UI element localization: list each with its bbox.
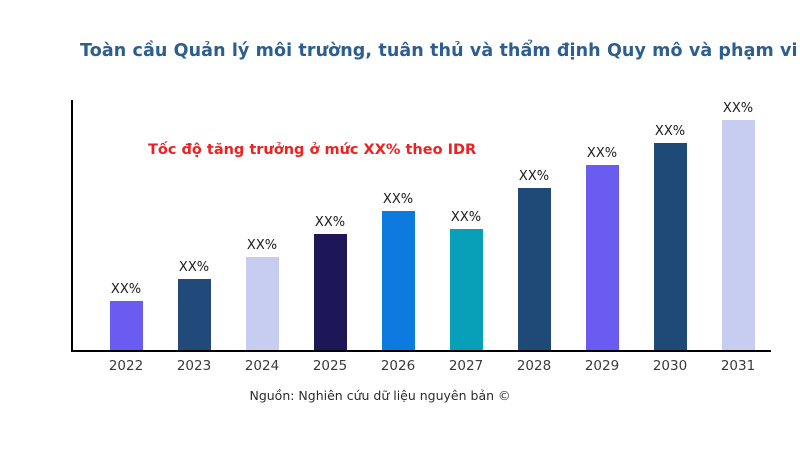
x-tick-2023: 2023 bbox=[160, 358, 228, 374]
bar-2023[interactable]: XX% bbox=[178, 279, 211, 350]
x-tick-2030: 2030 bbox=[636, 358, 704, 374]
x-tick-2022: 2022 bbox=[92, 358, 160, 374]
bar-rect-2025[interactable] bbox=[314, 234, 347, 350]
bar-2028[interactable]: XX% bbox=[518, 188, 551, 350]
bar-rect-2029[interactable] bbox=[586, 165, 619, 350]
x-tick-2029: 2029 bbox=[568, 358, 636, 374]
bar-2025[interactable]: XX% bbox=[314, 234, 347, 350]
bar-2022[interactable]: XX% bbox=[110, 301, 143, 350]
bar-value-label-2024: XX% bbox=[247, 238, 277, 253]
chart-title: Toàn cầu Quản lý môi trường, tuân thủ và… bbox=[80, 38, 800, 64]
x-tick-2028: 2028 bbox=[500, 358, 568, 374]
bar-value-label-2022: XX% bbox=[111, 282, 141, 297]
plot-area: Tốc độ tăng trưởng ở mức XX% theo IDR XX… bbox=[71, 100, 800, 352]
bar-rect-2030[interactable] bbox=[654, 143, 687, 350]
bar-value-label-2027: XX% bbox=[451, 210, 481, 225]
bar-value-label-2025: XX% bbox=[315, 215, 345, 230]
bar-rect-2031[interactable] bbox=[722, 120, 755, 350]
bar-value-label-2023: XX% bbox=[179, 260, 209, 275]
bar-value-label-2030: XX% bbox=[655, 124, 685, 139]
bar-2024[interactable]: XX% bbox=[246, 257, 279, 350]
bar-rect-2026[interactable] bbox=[382, 211, 415, 350]
x-tick-2024: 2024 bbox=[228, 358, 296, 374]
bar-2030[interactable]: XX% bbox=[654, 143, 687, 350]
x-tick-2025: 2025 bbox=[296, 358, 364, 374]
x-tick-2027: 2027 bbox=[432, 358, 500, 374]
bar-2026[interactable]: XX% bbox=[382, 211, 415, 350]
bar-rect-2027[interactable] bbox=[450, 229, 483, 350]
x-tick-2031: 2031 bbox=[704, 358, 772, 374]
bar-rect-2028[interactable] bbox=[518, 188, 551, 350]
bar-value-label-2026: XX% bbox=[383, 192, 413, 207]
y-axis-line bbox=[71, 100, 73, 352]
source-note: Nguồn: Nghiên cứu dữ liệu nguyên bản © bbox=[0, 388, 760, 403]
bar-value-label-2031: XX% bbox=[723, 101, 753, 116]
bar-rect-2024[interactable] bbox=[246, 257, 279, 350]
bar-2031[interactable]: XX% bbox=[722, 120, 755, 350]
bar-2029[interactable]: XX% bbox=[586, 165, 619, 350]
growth-rate-annotation: Tốc độ tăng trưởng ở mức XX% theo IDR bbox=[148, 142, 476, 158]
x-tick-2026: 2026 bbox=[364, 358, 432, 374]
bar-rect-2023[interactable] bbox=[178, 279, 211, 350]
bar-value-label-2029: XX% bbox=[587, 146, 617, 161]
bar-value-label-2028: XX% bbox=[519, 169, 549, 184]
bar-2027[interactable]: XX% bbox=[450, 229, 483, 350]
x-axis-line bbox=[71, 350, 771, 352]
bar-rect-2022[interactable] bbox=[110, 301, 143, 350]
